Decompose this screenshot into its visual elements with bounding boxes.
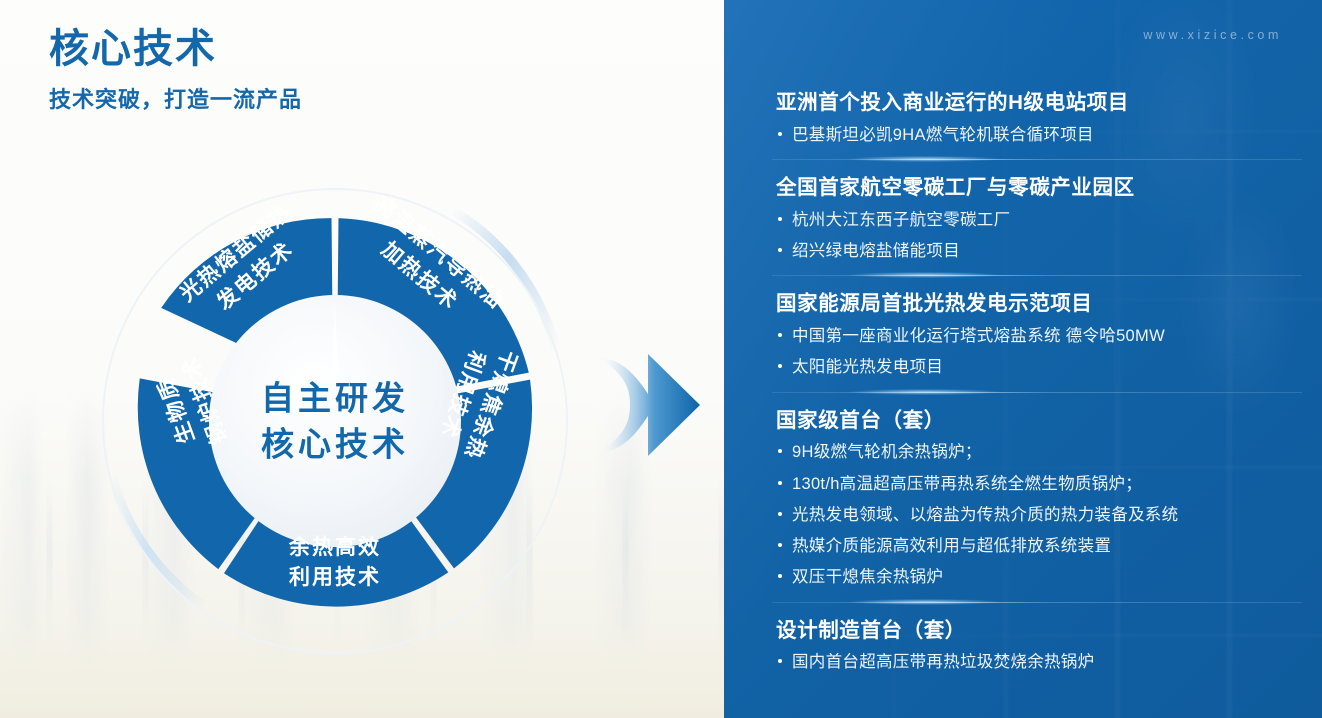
- achievement-sections: 亚洲首个投入商业运行的H级电站项目 巴基斯坦必凯9HA燃气轮机联合循环项目 全国…: [776, 88, 1296, 683]
- list-item: 国内首台超高压带再热垃圾焚烧余热锅炉: [776, 651, 1296, 673]
- section-asia-h-class: 亚洲首个投入商业运行的H级电站项目 巴基斯坦必凯9HA燃气轮机联合循环项目: [776, 88, 1296, 146]
- section-title: 国家级首台（套）: [776, 406, 1296, 437]
- section-bullets: 9H级燃气轮机余热锅炉； 130t/h高温超高压带再热系统全燃生物质锅炉； 光热…: [776, 441, 1296, 588]
- title-block: 核心技术 技术突破，打造一流产品: [49, 24, 302, 114]
- section-csp-demo: 国家能源局首批光热发电示范项目 中国第一座商业化运行塔式熔盐系统 德令哈50MW…: [776, 289, 1296, 378]
- section-zero-carbon: 全国首家航空零碳工厂与零碳产业园区 杭州大江东西子航空零碳工厂 绍兴绿电熔盐储能…: [776, 173, 1296, 262]
- list-item: 杭州大江东西子航空零碳工厂: [776, 209, 1296, 231]
- section-bullets: 杭州大江东西子航空零碳工厂 绍兴绿电熔盐储能项目: [776, 209, 1296, 263]
- list-item: 中国第一座商业化运行塔式熔盐系统 德令哈50MW: [776, 325, 1296, 347]
- flow-arrow: [596, 336, 714, 474]
- section-divider: [772, 602, 1302, 603]
- list-item: 巴基斯坦必凯9HA燃气轮机联合循环项目: [776, 124, 1296, 146]
- page-subtitle: 技术突破，打造一流产品: [49, 82, 302, 114]
- section-bullets: 巴基斯坦必凯9HA燃气轮机联合循环项目: [776, 124, 1296, 146]
- section-bullets: 中国第一座商业化运行塔式熔盐系统 德令哈50MW 太阳能光热发电项目: [776, 325, 1296, 379]
- core-technology-donut: 自主研发 核心技术 光热熔盐储热 发电技术 高温蒸汽导热油 加热技术 干熄焦余热…: [86, 175, 584, 667]
- list-item: 双压干熄焦余热锅炉: [776, 566, 1296, 588]
- list-item: 热媒介质能源高效利用与超低排放系统装置: [776, 535, 1296, 557]
- list-item: 太阳能光热发电项目: [776, 356, 1296, 378]
- section-title: 全国首家航空零碳工厂与零碳产业园区: [776, 173, 1296, 204]
- left-panel: 核心技术 技术突破，打造一流产品: [0, 0, 724, 718]
- list-item: 9H级燃气轮机余热锅炉；: [776, 441, 1296, 463]
- list-item: 130t/h高温超高压带再热系统全燃生物质锅炉；: [776, 473, 1296, 495]
- section-title: 设计制造首台（套）: [776, 616, 1296, 647]
- list-item: 绍兴绿电熔盐储能项目: [776, 240, 1296, 262]
- section-divider: [772, 275, 1302, 276]
- section-title: 亚洲首个投入商业运行的H级电站项目: [776, 88, 1296, 119]
- site-watermark: www.xizice.com: [1143, 28, 1282, 42]
- section-national-first-set: 国家级首台（套） 9H级燃气轮机余热锅炉； 130t/h高温超高压带再热系统全燃…: [776, 406, 1296, 589]
- section-divider: [772, 392, 1302, 393]
- section-design-first-set: 设计制造首台（套） 国内首台超高压带再热垃圾焚烧余热锅炉: [776, 616, 1296, 674]
- list-item: 光热发电领域、以熔盐为传热介质的热力装备及系统: [776, 504, 1296, 526]
- section-title: 国家能源局首批光热发电示范项目: [776, 289, 1296, 320]
- section-bullets: 国内首台超高压带再热垃圾焚烧余热锅炉: [776, 651, 1296, 673]
- section-divider: [772, 159, 1302, 160]
- slide-canvas: 核心技术 技术突破，打造一流产品: [0, 0, 1322, 718]
- arrow-icon: [596, 336, 714, 474]
- donut-svg: [86, 175, 584, 667]
- right-panel: www.xizice.com 亚洲首个投入商业运行的H级电站项目 巴基斯坦必凯9…: [724, 0, 1322, 718]
- page-title: 核心技术: [49, 24, 302, 74]
